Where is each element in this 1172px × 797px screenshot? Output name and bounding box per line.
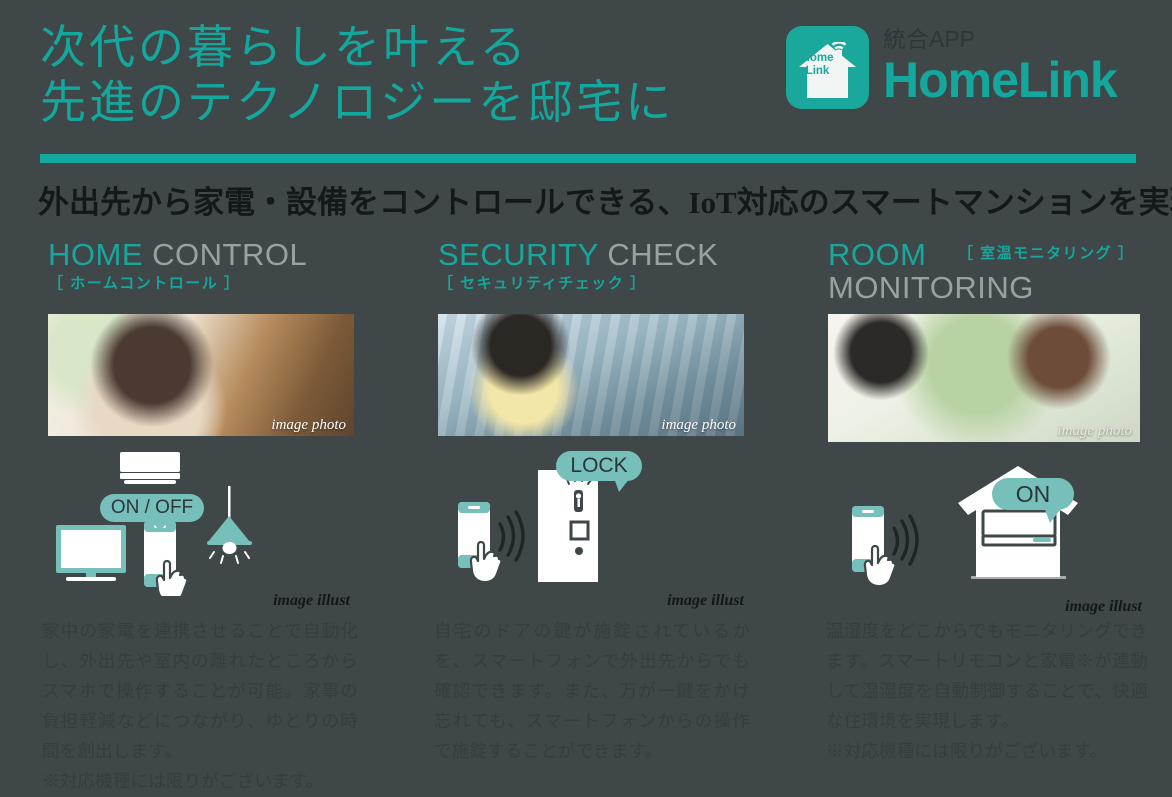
- room-monitoring-illustration: [828, 452, 1140, 602]
- homelink-app-icon: Home Link: [786, 26, 869, 109]
- illust-caption: image illust: [667, 592, 744, 610]
- column-title-jp: ［ セキュリティチェック ］: [438, 275, 744, 293]
- lead-text: 外出先から家電・設備をコントロールできる、IoT対応のスマートマンションを実現。: [38, 184, 1172, 222]
- photo-caption: image photo: [271, 417, 346, 434]
- air-conditioner-icon: [120, 452, 180, 484]
- pendant-light-icon: [207, 486, 252, 563]
- illust-caption: image illust: [273, 592, 350, 610]
- status-bubble-lock: LOCK: [556, 451, 642, 481]
- header-divider: [40, 154, 1136, 163]
- feature-photo: image photo: [438, 314, 744, 436]
- page-title: 次代の暮らしを叶える 先進のテクノロジーを邸宅に: [40, 20, 674, 130]
- description-text: 自宅のドアの鍵が施錠されているかを、スマートフォンで外出先からでも確認できます。…: [434, 621, 750, 761]
- logo-wordmark: HomeLink: [883, 54, 1117, 106]
- illust-caption: image illust: [1065, 598, 1142, 616]
- feature-photo: image photo: [828, 314, 1140, 442]
- signal-wave-icon: [894, 516, 917, 564]
- column-title-en-line2: MONITORING: [828, 271, 1034, 305]
- feature-illustration: LOCK image illust: [438, 446, 744, 616]
- column-title-en: ROOM: [828, 238, 926, 272]
- column-title-jp: ［ ホームコントロール ］: [48, 275, 354, 293]
- home-control-illustration: [48, 446, 354, 596]
- description-note: ※対応機種には限りがございます。: [826, 736, 1148, 766]
- page-header: 次代の暮らしを叶える 先進のテクノロジーを邸宅に Home Link: [0, 0, 1172, 160]
- column-heading: ROOM MONITORING ［ 室温モニタリング ］: [828, 238, 1140, 312]
- feature-description-home-control: 家中の家電を連携させることで自動化し、外出先や室内の離れたところからスマホで操作…: [42, 616, 358, 796]
- description-note: ※対応機種には限りがございます。: [42, 766, 358, 796]
- entrance-door-icon: [538, 470, 598, 582]
- photo-caption: image photo: [661, 417, 736, 434]
- status-bubble-on: ON: [992, 478, 1074, 510]
- column-heading: SECURITY CHECK ［ セキュリティチェック ］: [438, 238, 744, 312]
- column-heading: HOME CONTROL ［ ホームコントロール ］: [48, 238, 354, 312]
- feature-photo: image photo: [48, 314, 354, 436]
- feature-column-security-check: SECURITY CHECK ［ セキュリティチェック ］ image phot…: [438, 238, 744, 616]
- feature-description-room-monitoring: 温湿度をどこからでもモニタリングできます。スマートリモコンと家電※が連動して温湿…: [826, 616, 1148, 766]
- homelink-icon-label: Home Link: [786, 52, 849, 77]
- column-title-en: HOME CONTROL: [48, 238, 354, 272]
- description-text: 家中の家電を連携させることで自動化し、外出先や室内の離れたところからスマホで操作…: [42, 621, 358, 761]
- tv-icon: [56, 525, 126, 581]
- column-title-en: SECURITY CHECK: [438, 238, 744, 272]
- feature-description-security-check: 自宅のドアの鍵が施錠されているかを、スマートフォンで外出先からでも確認できます。…: [434, 616, 750, 766]
- homelink-logo: Home Link 統合APP HomeLink: [786, 26, 1117, 109]
- description-text: 温湿度をどこからでもモニタリングできます。スマートリモコンと家電※が連動して温湿…: [826, 621, 1148, 731]
- feature-illustration: ON image illust: [828, 452, 1140, 622]
- logo-sublabel: 統合APP: [883, 26, 1117, 52]
- status-bubble-onoff: ON / OFF: [100, 494, 204, 522]
- feature-column-room-monitoring: ROOM MONITORING ［ 室温モニタリング ］ image photo: [828, 238, 1140, 622]
- signal-wave-icon: [500, 512, 523, 560]
- feature-illustration: ON / OFF image illust: [48, 446, 354, 616]
- photo-caption: image photo: [1057, 423, 1132, 440]
- column-title-jp: ［ 室温モニタリング ］: [958, 245, 1134, 263]
- promo-page: 次代の暮らしを叶える 先進のテクノロジーを邸宅に Home Link: [0, 0, 1172, 797]
- feature-column-home-control: HOME CONTROL ［ ホームコントロール ］ image photo: [48, 238, 354, 616]
